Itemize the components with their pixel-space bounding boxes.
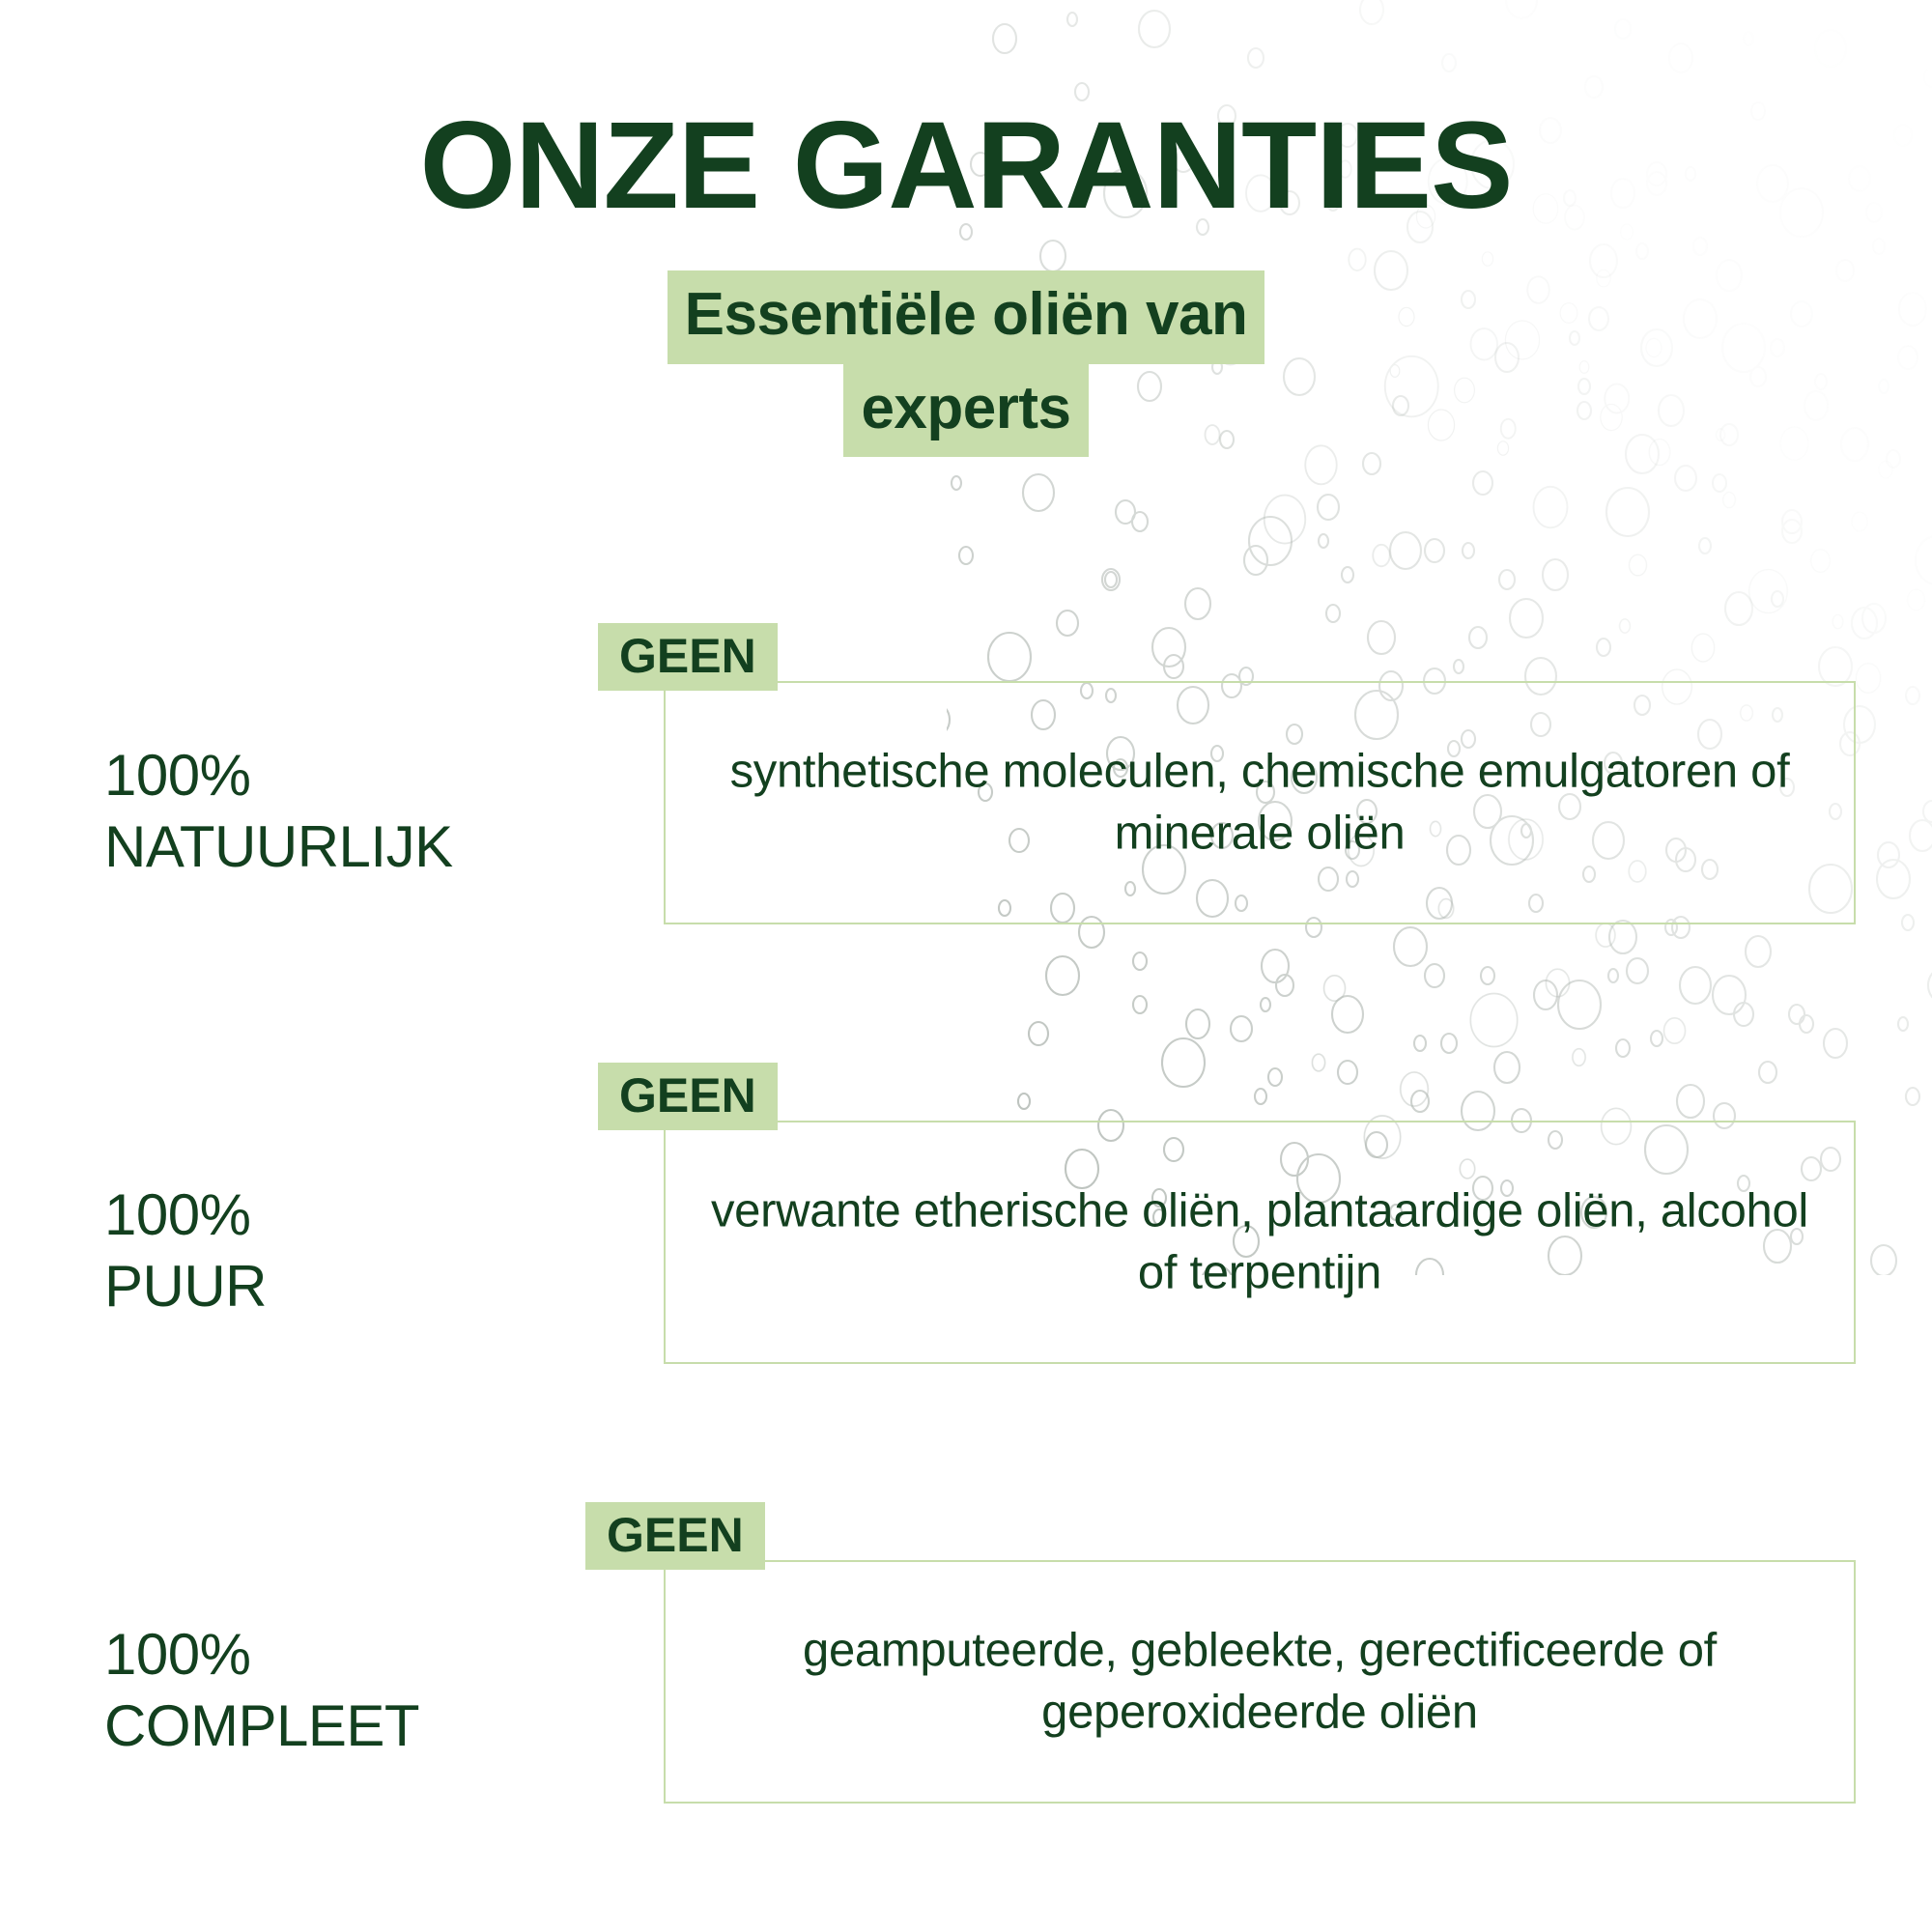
geen-badge-natuurlijk: GEEN xyxy=(598,623,778,691)
geen-badge-compleet: GEEN xyxy=(585,1502,765,1570)
guarantee-percent: 100% xyxy=(104,743,250,808)
guarantees-infographic: ONZE GARANTIES Essentiële oliën van expe… xyxy=(0,0,1932,1932)
guarantee-box-natuurlijk: synthetische moleculen, chemische emulga… xyxy=(664,681,1856,924)
guarantee-row-natuurlijk: 100%NATUURLIJK synthetische moleculen, c… xyxy=(0,667,1932,956)
guarantee-row-puur: 100%PUUR verwante etherische oliën, plan… xyxy=(0,1106,1932,1396)
guarantee-row-compleet: 100%COMPLEET geamputeerde, gebleekte, ge… xyxy=(0,1546,1932,1835)
subtitle-line-2: experts xyxy=(843,364,1088,458)
guarantee-label-compleet: 100%COMPLEET xyxy=(104,1619,419,1762)
header: ONZE GARANTIES Essentiële oliën van expe… xyxy=(0,0,1932,457)
guarantee-box-compleet: geamputeerde, gebleekte, gerectificeerde… xyxy=(664,1560,1856,1804)
guarantee-body-natuurlijk: synthetische moleculen, chemische emulga… xyxy=(704,741,1815,864)
page-title: ONZE GARANTIES xyxy=(0,0,1932,228)
guarantee-label-natuurlijk: 100%NATUURLIJK xyxy=(104,740,453,883)
guarantee-name: PUUR xyxy=(104,1254,267,1319)
guarantee-name: NATUURLIJK xyxy=(104,814,453,879)
guarantee-box-puur: verwante etherische oliën, plantaardige … xyxy=(664,1121,1856,1364)
subtitle-line-1: Essentiële oliën van xyxy=(668,270,1265,364)
geen-badge-puur: GEEN xyxy=(598,1063,778,1130)
guarantee-body-compleet: geamputeerde, gebleekte, gerectificeerde… xyxy=(704,1620,1815,1743)
guarantee-body-puur: verwante etherische oliën, plantaardige … xyxy=(704,1180,1815,1303)
subtitle: Essentiële oliën van experts xyxy=(0,270,1932,457)
guarantee-name: COMPLEET xyxy=(104,1693,419,1758)
guarantee-percent: 100% xyxy=(104,1622,250,1687)
guarantee-percent: 100% xyxy=(104,1182,250,1247)
guarantee-label-puur: 100%PUUR xyxy=(104,1179,267,1322)
